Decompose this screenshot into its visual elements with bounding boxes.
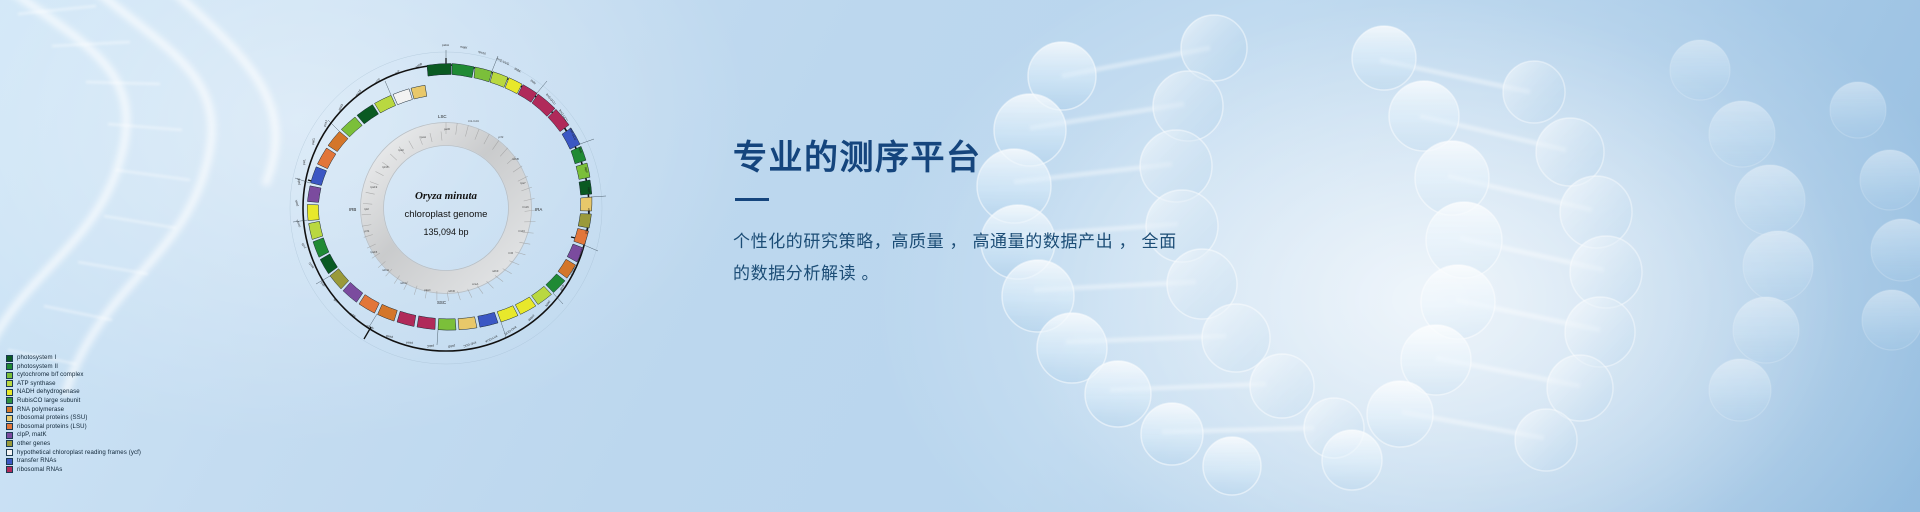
legend-label-ribosomal-rnas: ribosomal RNAs [17, 466, 62, 474]
legend-item: other genes [6, 440, 186, 448]
genome-organism-name: Oryza minuta [415, 190, 478, 202]
legend-swatch-cytochrome-bf-complex [6, 372, 13, 379]
legend-item: clpP, matK [6, 431, 186, 439]
svg-text:ndhF: ndhF [492, 269, 499, 273]
svg-text:trnQ-UUG: trnQ-UUG [496, 56, 511, 66]
legend-item: photosystem I [6, 354, 186, 362]
legend-label-atp-synthase: ATP synthase [17, 380, 56, 388]
svg-text:petD: petD [444, 127, 450, 131]
svg-text:psbK: psbK [514, 66, 523, 74]
svg-text:psbI: psbI [530, 78, 537, 85]
chloroplast-genome-map: LSC IRA SSC IRB psbA matK rps16 trnQ-UUG… [246, 8, 646, 408]
headline-divider [735, 198, 769, 201]
svg-text:psbA: psbA [442, 43, 450, 47]
legend-item: hypothetical chloroplast reading frames … [6, 449, 186, 457]
hero-subcopy-line-1: 个性化的研究策略，高质量 ， 高通量的数据产出 ， 全面 [733, 232, 1177, 251]
svg-text:psaC: psaC [424, 288, 431, 292]
svg-text:ndhD: ndhD [448, 289, 455, 293]
legend-label-hypothetical-ycf: hypothetical chloroplast reading frames … [17, 449, 141, 457]
legend-label-cytochrome-bf-complex: cytochrome b/f complex [17, 371, 84, 379]
hero-banner: LSC IRA SSC IRB psbA matK rps16 trnQ-UUG… [0, 0, 1920, 512]
svg-text:atpH: atpH [587, 187, 591, 194]
svg-text:ycf2: ycf2 [498, 135, 504, 139]
svg-text:trnD-GUC: trnD-GUC [503, 325, 517, 336]
svg-text:psbC: psbC [426, 344, 434, 348]
svg-text:ycf1: ycf1 [364, 229, 370, 233]
svg-text:rps16: rps16 [478, 50, 487, 56]
legend-swatch-clpp-matk [6, 432, 13, 439]
legend-swatch-other-genes [6, 440, 13, 447]
svg-text:rpl2: rpl2 [364, 207, 369, 211]
legend-item: ribosomal proteins (SSU) [6, 414, 186, 422]
svg-text:petG: petG [311, 137, 316, 145]
svg-text:trnI-CAU: trnI-CAU [468, 119, 479, 123]
legend-item: RNA polymerase [6, 406, 186, 414]
svg-text:rrn5: rrn5 [508, 251, 514, 255]
svg-text:psaA: psaA [405, 340, 413, 345]
svg-text:cemA: cemA [295, 218, 302, 228]
legend-item: cytochrome b/f complex [6, 371, 186, 379]
svg-text:rrn16: rrn16 [522, 205, 529, 209]
hero-copy: 专业的测序平台 个性化的研究策略，高质量 ， 高通量的数据产出 ， 全面 的数据… [733, 138, 1353, 290]
svg-text:rps19: rps19 [370, 185, 378, 189]
svg-text:ndhH: ndhH [382, 268, 389, 272]
svg-text:petA: petA [294, 199, 299, 207]
svg-text:rpl20: rpl20 [373, 77, 381, 85]
svg-text:rrn23: rrn23 [518, 229, 525, 233]
region-label-irb: IRB [349, 207, 356, 212]
svg-text:rps14: rps14 [365, 324, 374, 331]
legend-label-photosystem-i: photosystem I [17, 354, 56, 362]
legend-label-transfer-rnas: transfer RNAs [17, 457, 57, 465]
legend-label-other-genes: other genes [17, 440, 50, 448]
svg-text:ycf4: ycf4 [300, 242, 306, 249]
legend-item: photosystem II [6, 363, 186, 371]
legend-item: ribosomal RNAs [6, 466, 186, 474]
svg-text:rps3: rps3 [398, 148, 404, 152]
legend-label-ribosomal-proteins-lsu: ribosomal proteins (LSU) [17, 423, 87, 431]
legend-item: transfer RNAs [6, 457, 186, 465]
svg-text:psaJ: psaJ [322, 119, 328, 127]
legend-label-rna-polymerase: RNA polymerase [17, 406, 64, 414]
legend-label-nadh-dehydrogenase: NADH dehydrogenase [17, 388, 80, 396]
legend-swatch-rna-polymerase [6, 406, 13, 413]
genome-type-label: chloroplast genome [405, 209, 488, 220]
svg-text:psbD: psbD [447, 344, 456, 349]
legend-label-ribosomal-proteins-ssu: ribosomal proteins (SSU) [17, 414, 87, 422]
legend-swatch-photosystem-ii [6, 363, 13, 370]
region-label-lsc: LSC [438, 114, 447, 119]
hero-subcopy: 个性化的研究策略，高质量 ， 高通量的数据产出 ， 全面 的数据分析解读 。 [733, 226, 1293, 290]
svg-text:ccsA: ccsA [472, 282, 478, 286]
legend-swatch-ribosomal-proteins-lsu [6, 423, 13, 430]
region-label-ssc: SSC [437, 300, 446, 305]
legend-swatch-ribosomal-proteins-ssu [6, 415, 13, 422]
genome-legend: photosystem I photosystem II cytochrome … [6, 354, 186, 474]
legend-swatch-transfer-rnas [6, 458, 13, 465]
svg-text:atpB: atpB [333, 298, 340, 305]
svg-text:rpoA: rpoA [420, 135, 426, 139]
legend-label-photosystem-ii: photosystem II [17, 363, 58, 371]
legend-label-clpp-matk: clpP, matK [17, 431, 47, 439]
svg-text:psaB: psaB [385, 334, 393, 340]
svg-text:petL: petL [302, 159, 306, 166]
legend-swatch-rubisco-large-subunit [6, 397, 13, 404]
legend-swatch-nadh-dehydrogenase [6, 389, 13, 396]
svg-text:rps15: rps15 [370, 250, 378, 254]
genome-length-label: 135,094 bp [423, 227, 468, 237]
legend-item: NADH dehydrogenase [6, 388, 186, 396]
svg-text:rpl33: rpl33 [337, 103, 344, 111]
hero-subcopy-line-2: 的数据分析解读 。 [733, 258, 1293, 290]
legend-swatch-atp-synthase [6, 380, 13, 387]
svg-text:matK: matK [460, 45, 469, 50]
legend-item: ATP synthase [6, 380, 186, 388]
svg-text:ndhB: ndhB [512, 157, 519, 161]
genome-map-svg: LSC IRA SSC IRB psbA matK rps16 trnQ-UUG… [246, 8, 646, 408]
svg-text:ndhA: ndhA [400, 281, 407, 285]
legend-label-rubisco-large-subunit: RubisCO large subunit [17, 397, 80, 405]
hero-headline: 专业的测序平台 [733, 138, 1353, 178]
region-label-ira: IRA [535, 207, 542, 212]
legend-swatch-photosystem-i [6, 355, 13, 362]
legend-item: RubisCO large subunit [6, 397, 186, 405]
svg-text:clpP: clpP [394, 69, 401, 76]
svg-text:rbcL: rbcL [319, 280, 326, 287]
svg-text:rps2: rps2 [584, 228, 589, 235]
legend-swatch-ribosomal-rnas [6, 466, 13, 473]
svg-text:psbE: psbE [297, 178, 301, 185]
legend-item: ribosomal proteins (LSU) [6, 423, 186, 431]
svg-text:atpI: atpI [587, 208, 591, 213]
svg-text:rps7: rps7 [520, 181, 526, 185]
svg-text:rpl16: rpl16 [382, 165, 389, 169]
legend-swatch-hypothetical-ycf [6, 449, 13, 456]
